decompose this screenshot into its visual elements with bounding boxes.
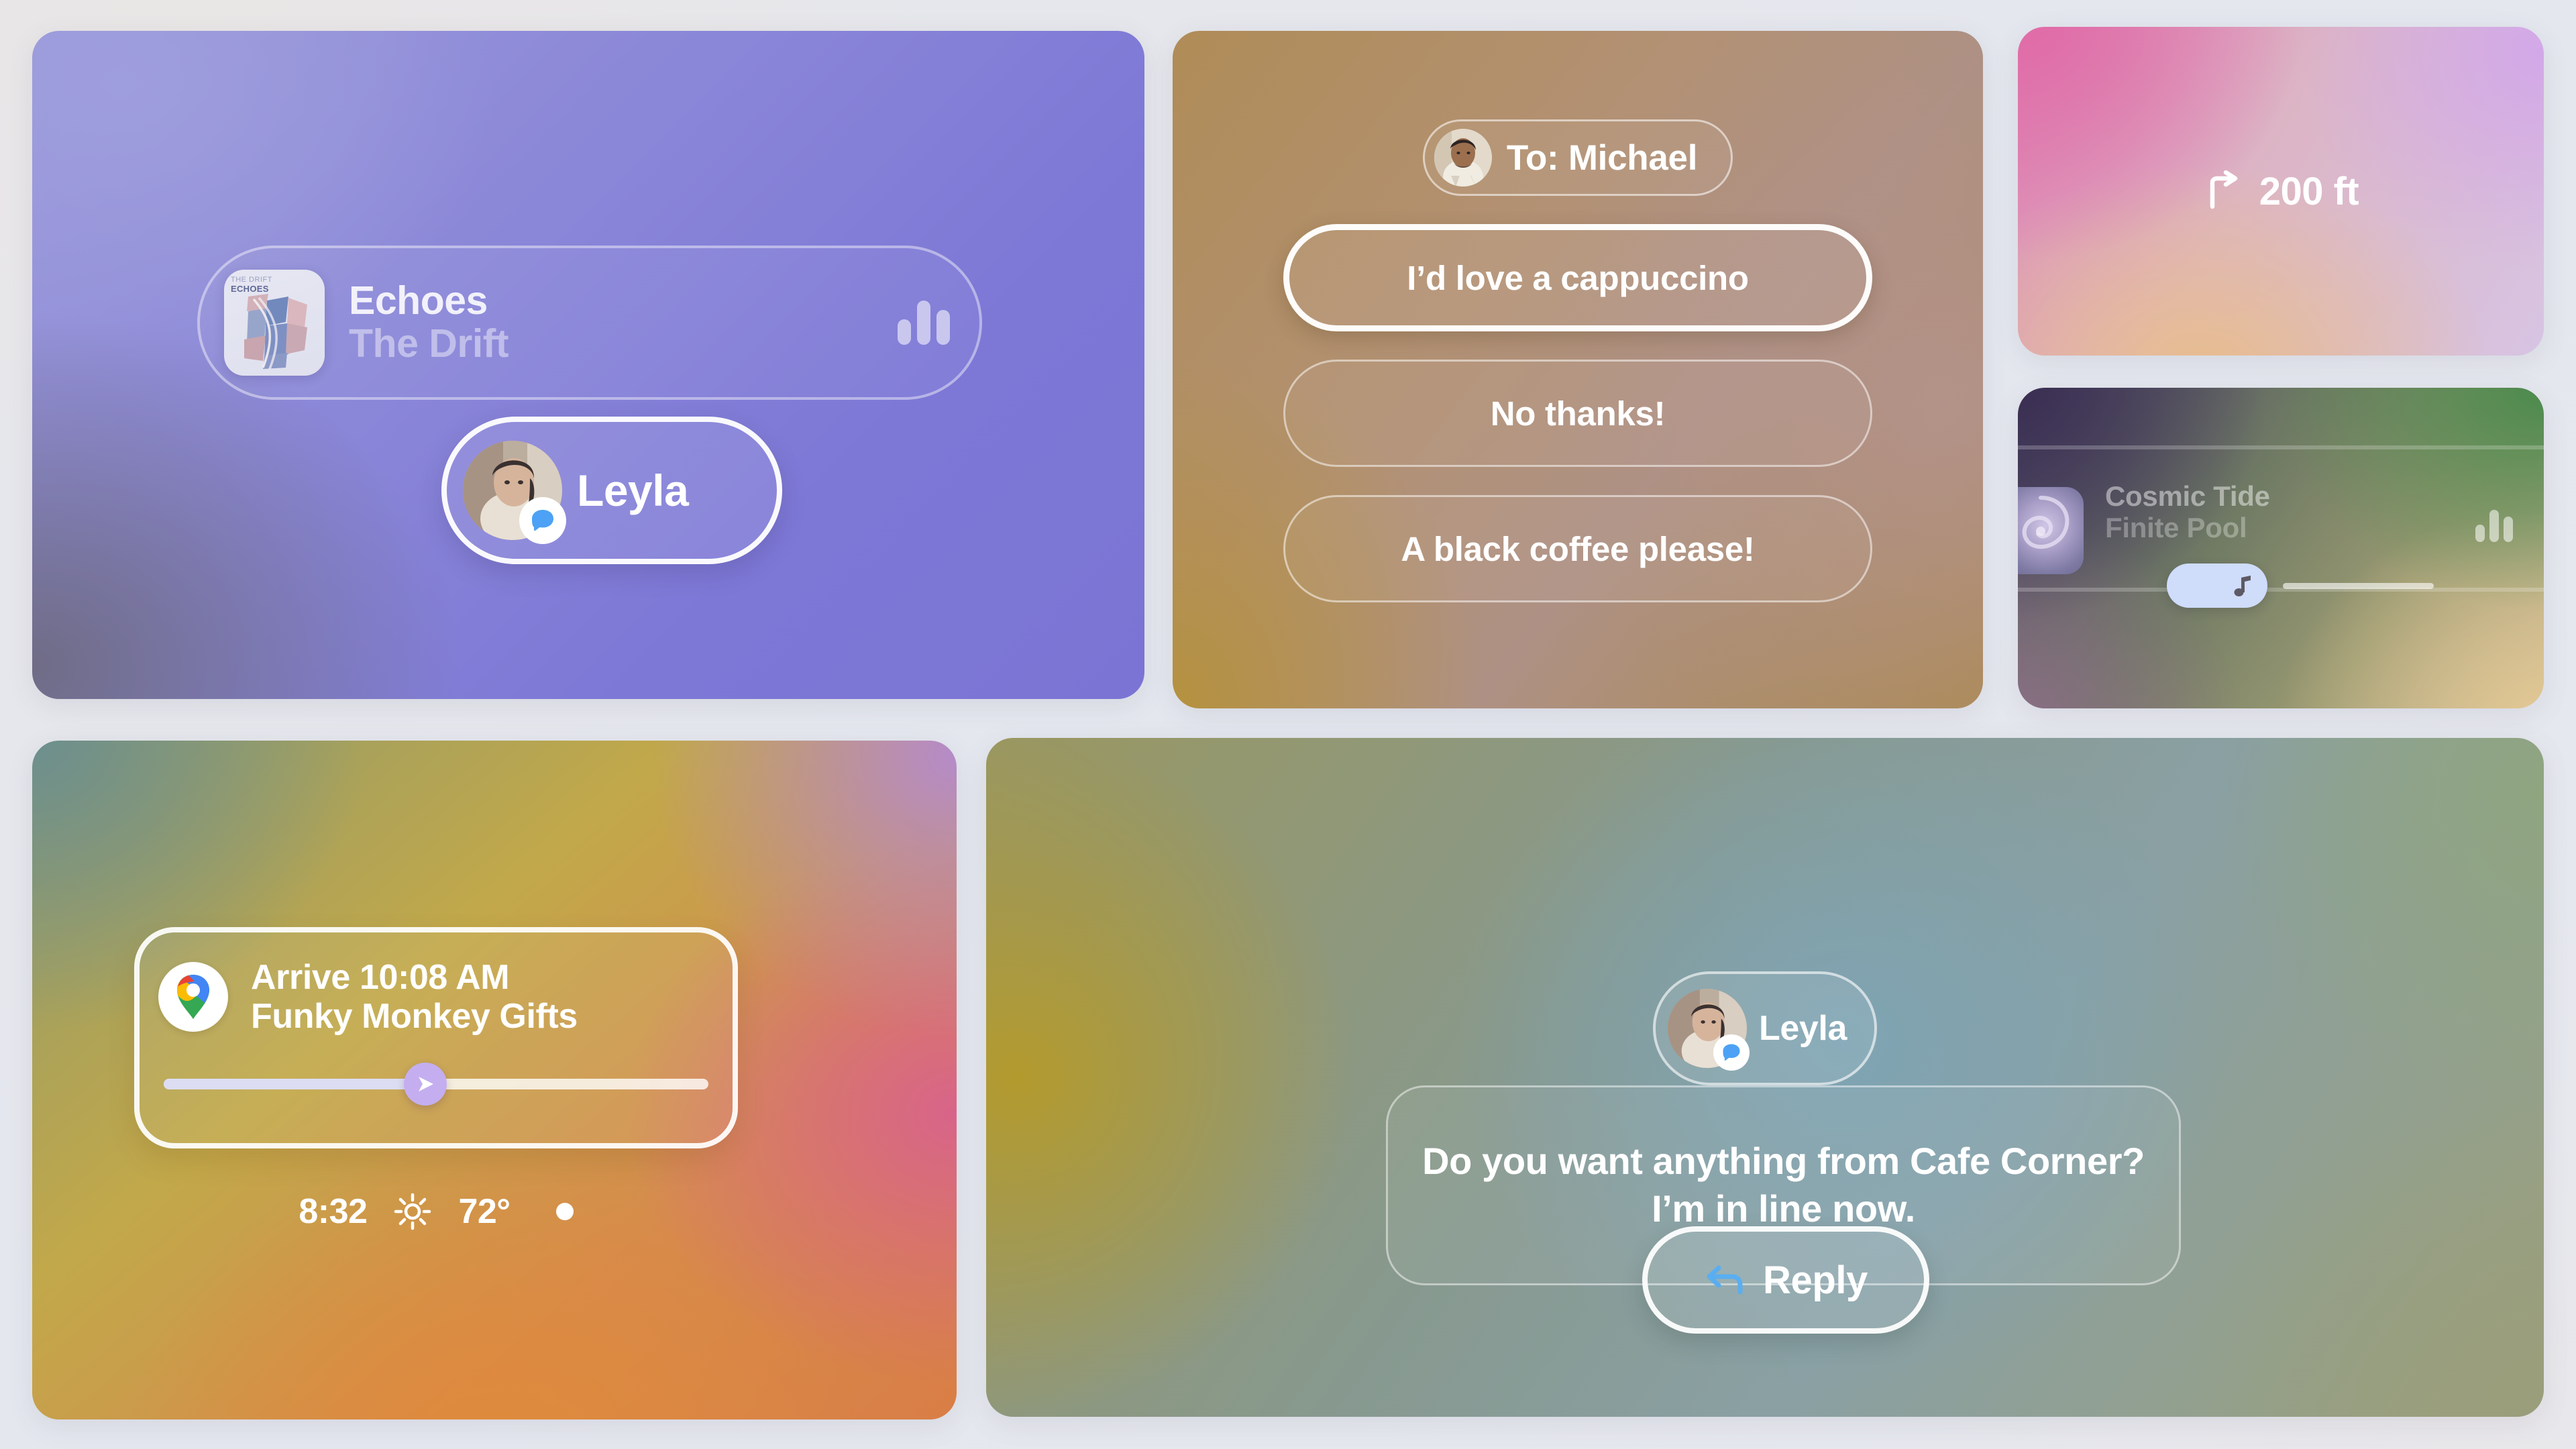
album-art: THE DRIFT ECHOES [224,270,325,376]
album-art-line1: THE DRIFT [231,276,272,284]
avatar [1668,989,1747,1068]
sender-name: Leyla [1759,1008,1847,1049]
card-maps-navigation[interactable]: Arrive 10:08 AM Funky Monkey Gifts 8:32 [32,741,957,1419]
album-art [2018,487,2084,574]
now-playing-text: Echoes The Drift [349,280,898,365]
reply-option-2[interactable]: A black coffee please! [1283,495,1872,602]
clock-time: 8:32 [299,1191,367,1232]
music-note-icon [2233,574,2254,598]
route-progress-fill [164,1079,425,1089]
recipient-label: To: Michael [1507,138,1697,178]
equalizer-icon [898,301,950,345]
sun-icon [394,1193,431,1230]
avatar [1434,129,1492,186]
playback-progress-bar[interactable] [2283,583,2434,589]
message-body: Do you want anything from Cafe Corner? I… [1419,1138,2148,1232]
divider-top [2018,445,2544,449]
card-navigation-distance[interactable]: 200 ft [2018,27,2544,356]
destination-name: Funky Monkey Gifts [251,997,578,1036]
card-reply-options[interactable]: To: Michael I’d love a cappuccino No tha… [1173,31,1983,708]
album-art-line2: ECHOES [231,284,272,294]
card-music-player-echoes[interactable]: THE DRIFT ECHOES Echoes The Drift [32,31,1144,699]
track-artist: Finite Pool [2105,513,2270,543]
maps-pin-icon [158,962,228,1032]
navigation-row: 200 ft [2203,169,2359,214]
contact-name: Leyla [577,465,688,516]
reply-option-1[interactable]: No thanks! [1283,360,1872,467]
track-title: Cosmic Tide [2105,482,2270,512]
temperature: 72° [458,1191,510,1232]
equalizer-icon [2475,510,2513,542]
album-art-label: THE DRIFT ECHOES [231,276,272,293]
reply-arrow-icon [1704,1261,1746,1299]
route-pill[interactable]: Arrive 10:08 AM Funky Monkey Gifts [134,927,738,1148]
now-playing-text: Cosmic Tide Finite Pool [2105,482,2270,543]
music-note-pill[interactable] [2167,563,2267,608]
status-dot [556,1203,574,1220]
messages-bubble-icon [519,497,566,544]
messages-bubble-icon [1713,1034,1750,1071]
track-title: Echoes [349,280,898,322]
widget-canvas: THE DRIFT ECHOES Echoes The Drift [0,0,2576,1449]
divider-bottom [2018,588,2544,592]
recipient-pill[interactable]: To: Michael [1423,119,1733,196]
route-header: Arrive 10:08 AM Funky Monkey Gifts [140,932,733,1036]
route-text: Arrive 10:08 AM Funky Monkey Gifts [251,958,578,1036]
reply-button-label: Reply [1763,1258,1868,1303]
reply-button[interactable]: Reply [1642,1226,1929,1334]
status-row: 8:32 72° [134,1191,738,1232]
route-progress-bar[interactable] [164,1079,708,1089]
navigation-arrow-icon[interactable] [404,1063,447,1106]
reply-option-0[interactable]: I’d love a cappuccino [1283,224,1872,331]
arrival-time: Arrive 10:08 AM [251,958,578,997]
navigation-distance: 200 ft [2259,169,2359,214]
contact-notification-pill-leyla[interactable]: Leyla [441,417,782,564]
now-playing-pill[interactable]: THE DRIFT ECHOES Echoes The Drift [197,246,982,400]
turn-right-icon [2203,170,2245,212]
message-sender-pill[interactable]: Leyla [1653,971,1877,1085]
track-artist: The Drift [349,323,898,365]
avatar [463,441,562,540]
card-incoming-message[interactable]: Leyla Do you want anything from Cafe Cor… [986,738,2544,1417]
card-music-player-cosmic-tide[interactable]: Cosmic Tide Finite Pool [2018,388,2544,708]
